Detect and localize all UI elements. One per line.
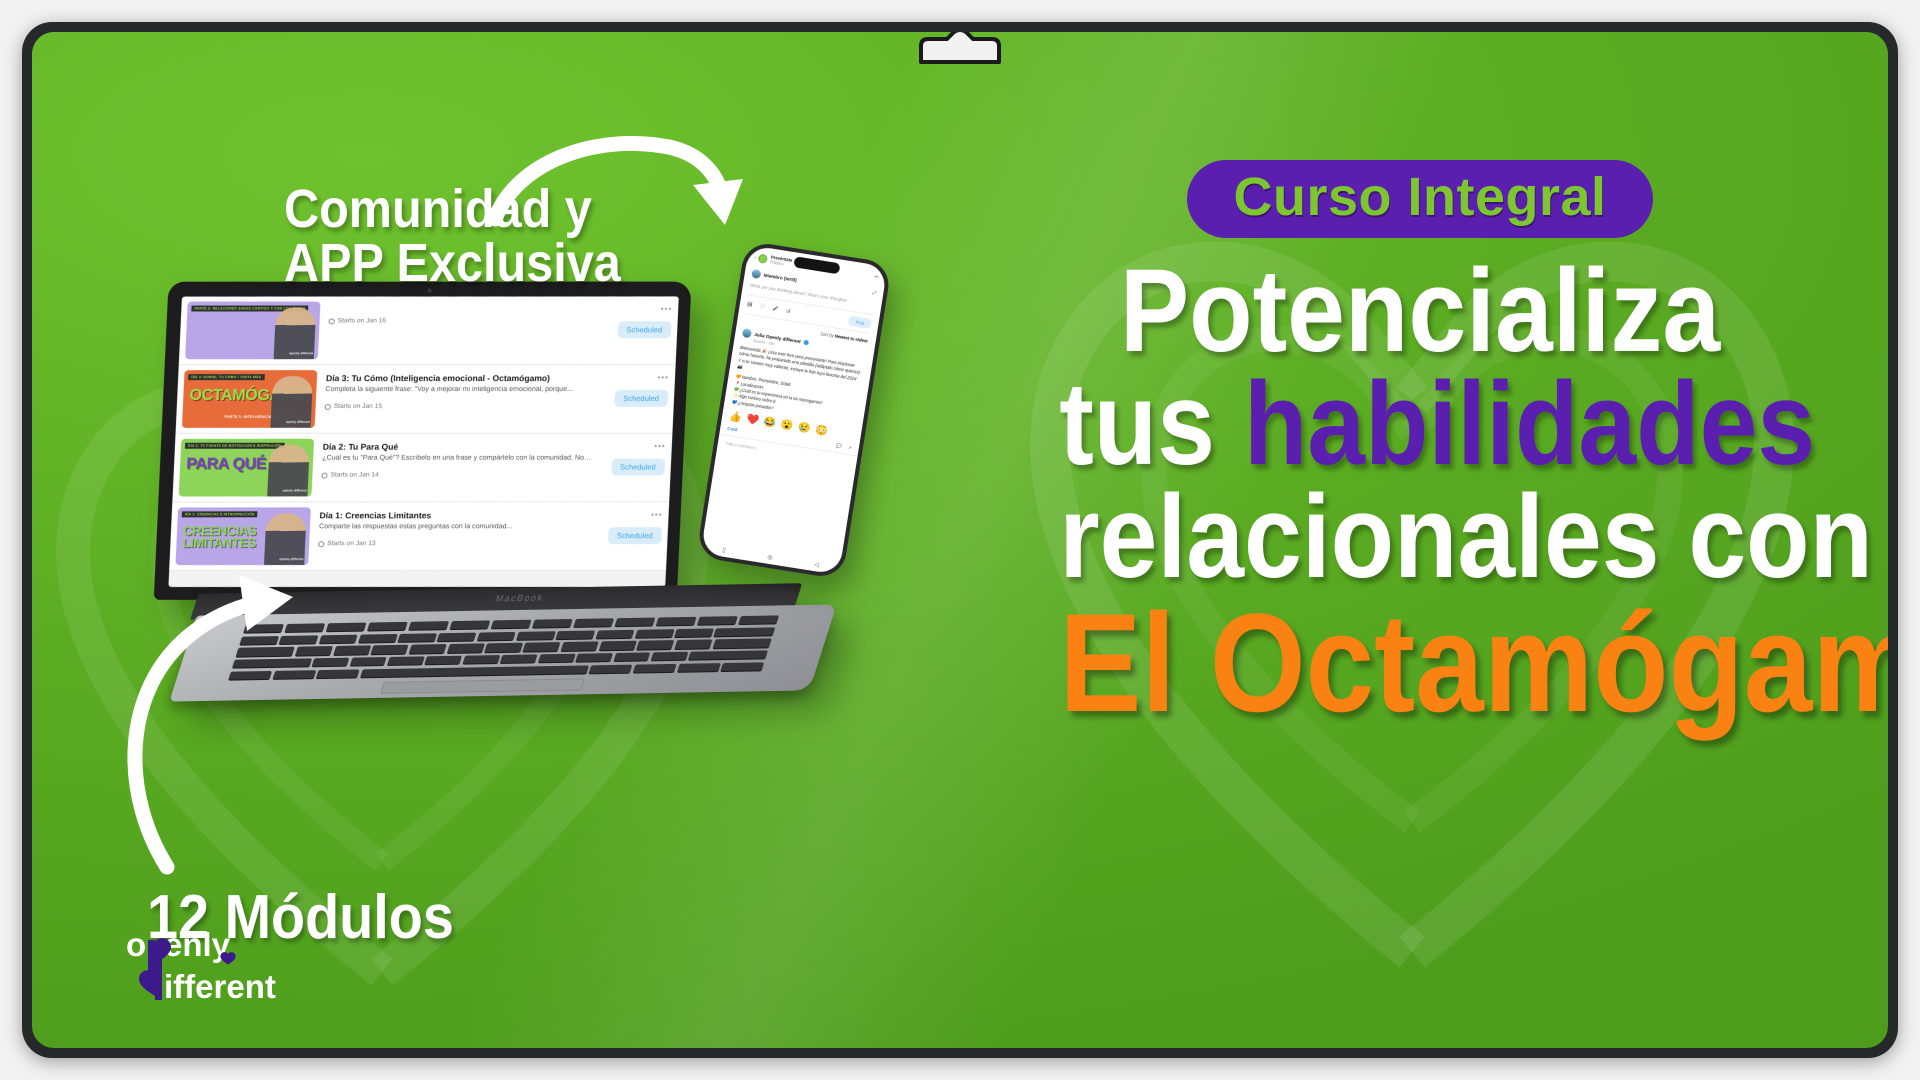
author-avatar	[742, 328, 752, 338]
headline-block: Curso Integral Potencializa tus habilida…	[1010, 160, 1830, 728]
reaction-blush-icon[interactable]: 😳	[815, 425, 829, 438]
thumb-brand-logo: openly different	[289, 351, 313, 355]
reaction-sad-icon[interactable]: 😢	[797, 422, 811, 435]
user-avatar	[751, 269, 761, 279]
group-avatar	[758, 253, 768, 263]
course-thumbnail: PARTE 2: RELACIONES SANAS CONTIGO Y CON …	[185, 302, 320, 360]
brand-logo: o enly ifferent	[124, 920, 354, 1010]
course-meta: Starts on Jan 13	[318, 540, 588, 547]
thumb-tag: DÍA 3: DONDE, TU CÓMO / TRATA MÁS	[188, 374, 264, 380]
microphone-icon[interactable]: 🎤	[772, 305, 779, 312]
row-menu-icon[interactable]: •••	[651, 511, 663, 519]
callout-community-text: Comunidad y APP Exclusiva	[284, 182, 621, 290]
course-desc: ¿Cuál es tu "Para Qué"? Escríbelo en una…	[322, 455, 592, 462]
home-icon[interactable]: ◎	[767, 554, 773, 562]
scheduled-badge[interactable]: Scheduled	[614, 390, 669, 407]
course-meta: Starts on Jan 15	[325, 403, 595, 410]
thumb-title: CREENCIAS LIMITANTES	[182, 525, 257, 550]
scheduled-badge[interactable]: Scheduled	[617, 321, 672, 338]
sort-label: Sort by	[820, 331, 835, 338]
thumb-brand-logo: openly different	[283, 489, 307, 493]
laptop-palmrest	[169, 604, 836, 701]
svg-text:ifferent: ifferent	[164, 968, 276, 1005]
recents-icon[interactable]: ▯	[722, 547, 726, 554]
row-menu-icon[interactable]: •••	[657, 374, 669, 382]
verified-badge-icon	[803, 340, 809, 346]
phone-header-sub: Público	[770, 259, 784, 266]
thumb-tag: DÍA 2: TU FUENTE DE MOTIVACIÓN E INSPIRA…	[185, 443, 285, 449]
document-icon[interactable]: 📄	[759, 303, 766, 310]
course-start-date: Starts on Jan 15	[334, 403, 383, 410]
back-icon[interactable]: ‹	[754, 254, 756, 259]
clock-icon	[318, 541, 324, 547]
reaction-heart-icon[interactable]: ❤️	[746, 414, 760, 427]
poll-icon[interactable]: 📊	[785, 307, 792, 314]
svg-text:o: o	[126, 926, 146, 963]
reaction-laugh-icon[interactable]: 😂	[763, 416, 777, 429]
course-row[interactable]: DÍA 3: DONDE, TU CÓMO / TRATA MÁS OCTAMÓ…	[176, 365, 676, 434]
row-menu-icon[interactable]: •••	[654, 443, 666, 451]
headline-brand-name: El Octamógamo	[1059, 597, 1781, 729]
thumb-brand-logo: openly different	[279, 557, 303, 561]
course-start-date: Starts on Jan 16	[338, 317, 387, 324]
banner-frame: Comunidad y APP Exclusiva 12 Módulos	[22, 22, 1898, 1058]
scheduled-badge[interactable]: Scheduled	[611, 459, 666, 476]
headline-line-3: relacionales con	[1059, 482, 1781, 593]
thumb-title: PARA QUÉ	[186, 457, 267, 472]
back-nav-icon[interactable]: ◁	[814, 561, 820, 569]
laptop-lid: PARTE 2: RELACIONES SANAS CONTIGO Y CON …	[154, 282, 692, 600]
laptop-trackpad	[380, 678, 585, 694]
laptop-base: MacBook	[161, 575, 841, 706]
laptop-screen: PARTE 2: RELACIONES SANAS CONTIGO Y CON …	[168, 297, 678, 587]
clock-icon	[325, 403, 331, 409]
reaction-thumbsup-icon[interactable]: 👍	[728, 411, 742, 424]
course-row[interactable]: DÍA 1: CREENCIAS E INTROSPECCIÓN CREENCI…	[169, 502, 669, 571]
comment-icon[interactable]: 💬	[836, 443, 843, 450]
course-thumbnail: DÍA 3: DONDE, TU CÓMO / TRATA MÁS OCTAMÓ…	[182, 370, 317, 428]
course-meta: Starts on Jan 16	[329, 317, 599, 324]
sort-value: Newest to oldest	[834, 334, 868, 344]
course-start-date: Starts on Jan 14	[330, 472, 379, 479]
course-desc: Comparte las respuestas estas preguntas …	[319, 523, 589, 530]
post-button[interactable]: Post	[848, 316, 872, 329]
row-menu-icon[interactable]: •••	[660, 305, 672, 313]
headline-line-1: Potencializa	[1059, 256, 1781, 367]
course-row[interactable]: DÍA 2: TU FUENTE DE MOTIVACIÓN E INSPIRA…	[172, 434, 672, 503]
headline-line-2: tus habilidades	[1059, 369, 1781, 480]
clock-icon	[329, 318, 335, 324]
course-title: Día 1: Creencias Limitantes	[319, 510, 589, 520]
thumb-tag: DÍA 1: CREENCIAS E INTROSPECCIÓN	[182, 511, 258, 517]
scheduled-badge[interactable]: Scheduled	[607, 527, 662, 544]
image-icon[interactable]: 🖼	[746, 301, 753, 308]
hanging-tab-icon	[913, 32, 1007, 64]
clock-icon	[321, 472, 327, 478]
cool-action-button[interactable]: Cool	[727, 426, 738, 433]
more-options-icon[interactable]: •••	[874, 273, 879, 279]
laptop-keyboard	[228, 615, 779, 680]
expand-icon[interactable]: ⤢	[872, 290, 876, 296]
course-meta: Starts on Jan 14	[321, 472, 591, 479]
course-desc: Completa la siguiente frase: "Voy a mejo…	[325, 386, 595, 393]
macbook-brand-label: MacBook	[494, 593, 545, 604]
course-start-date: Starts on Jan 13	[327, 540, 376, 547]
course-thumbnail: DÍA 2: TU FUENTE DE MOTIVACIÓN E INSPIRA…	[179, 439, 314, 497]
course-type-badge: Curso Integral	[1187, 160, 1652, 238]
reaction-wow-icon[interactable]: 😮	[780, 419, 794, 432]
course-thumbnail: DÍA 1: CREENCIAS E INTROSPECCIÓN CREENCI…	[175, 507, 310, 565]
promo-banner: Comunidad y APP Exclusiva 12 Módulos	[32, 32, 1888, 1048]
course-title: Día 2: Tu Para Qué	[323, 442, 593, 452]
thumb-brand-logo: openly different	[286, 420, 310, 424]
share-icon[interactable]: ↗	[847, 445, 852, 452]
course-title: Día 3: Tu Cómo (Inteligencia emocional -…	[326, 373, 596, 383]
course-row[interactable]: PARTE 2: RELACIONES SANAS CONTIGO Y CON …	[179, 297, 679, 366]
